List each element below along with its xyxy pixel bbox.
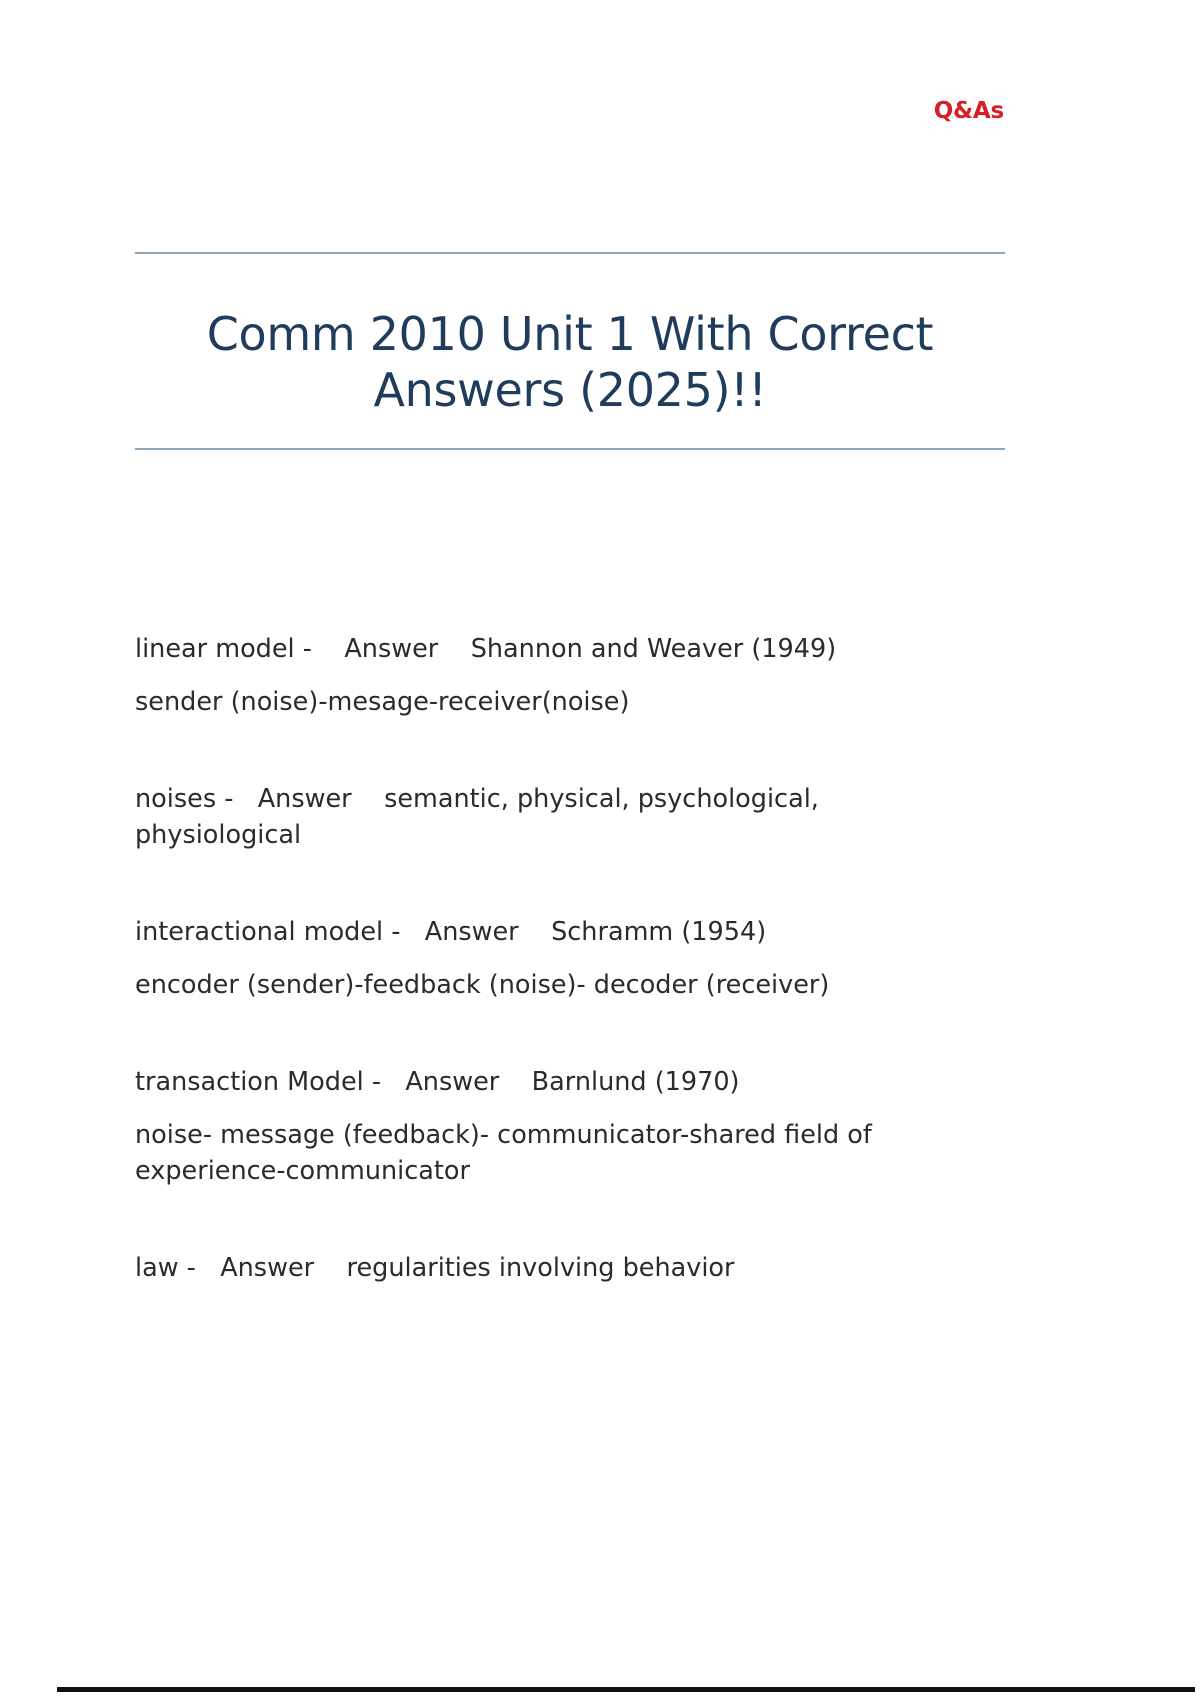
qa-detail-line: encoder (sender)-feedback (noise)- decod…: [135, 968, 947, 1003]
qa-term-line: transaction Model - Answer Barnlund (197…: [135, 1065, 947, 1100]
document-page: Q&As Comm 2010 Unit 1 With Correct Answe…: [0, 0, 1200, 1700]
title-block: Comm 2010 Unit 1 With Correct Answers (2…: [135, 252, 1005, 450]
qa-detail-line: sender (noise)-mesage-receiver(noise): [135, 685, 947, 720]
qa-block: transaction Model - Answer Barnlund (197…: [135, 1065, 947, 1189]
qa-block: interactional model - Answer Schramm (19…: [135, 915, 947, 1003]
qa-term-line: noises - Answer semantic, physical, psyc…: [135, 782, 947, 852]
brand-badge: Q&As: [934, 98, 1004, 124]
page-title: Comm 2010 Unit 1 With Correct Answers (2…: [135, 254, 1005, 448]
qa-term-line: law - Answer regularities involving beha…: [135, 1251, 947, 1286]
qa-block: law - Answer regularities involving beha…: [135, 1251, 947, 1286]
qa-term-line: interactional model - Answer Schramm (19…: [135, 915, 947, 950]
qa-block: noises - Answer semantic, physical, psyc…: [135, 782, 947, 852]
document-body: linear model - Answer Shannon and Weaver…: [135, 632, 947, 1286]
qa-detail-line: noise- message (feedback)- communicator-…: [135, 1118, 947, 1188]
qa-term-line: linear model - Answer Shannon and Weaver…: [135, 632, 947, 667]
qa-block: linear model - Answer Shannon and Weaver…: [135, 632, 947, 720]
title-rule-bottom: [135, 448, 1005, 450]
footer-bar: [57, 1687, 1195, 1692]
